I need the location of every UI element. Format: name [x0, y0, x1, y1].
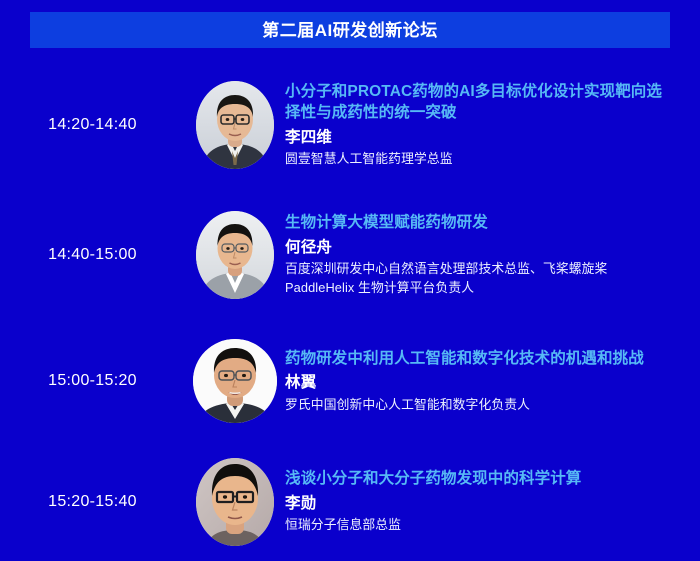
avatar-cell: [185, 211, 285, 299]
session-text: 生物计算大模型赋能药物研发 何径舟 百度深圳研发中心自然语言处理部技术总监、飞桨…: [285, 212, 700, 297]
session-time: 15:00-15:20: [0, 372, 185, 390]
talk-title: 生物计算大模型赋能药物研发: [285, 212, 674, 233]
affiliation-line: 圆壹智慧人工智能药理学总监: [285, 150, 674, 169]
affiliation-line: PaddleHelix 生物计算平台负责人: [285, 279, 674, 298]
talk-title: 药物研发中利用人工智能和数字化技术的机遇和挑战: [285, 348, 674, 369]
speaker-photo-he-jingzhou: [196, 211, 274, 299]
talk-title: 小分子和PROTAC药物的AI多目标优化设计实现靶向选择性与成药性的统一突破: [285, 81, 674, 124]
affiliation-line: 恒瑞分子信息部总监: [285, 516, 674, 535]
speaker-name: 何径舟: [285, 237, 674, 259]
talk-title: 浅谈小分子和大分子药物发现中的科学计算: [285, 468, 674, 489]
session-list: 14:20-14:40: [0, 60, 700, 561]
session-text: 小分子和PROTAC药物的AI多目标优化设计实现靶向选择性与成药性的统一突破 李…: [285, 81, 700, 169]
affiliation-line: 百度深圳研发中心自然语言处理部技术总监、飞桨螺旋桨: [285, 260, 674, 279]
speaker-photo-lin-yi: [193, 339, 277, 423]
speaker-photo-li-siwei: [196, 81, 274, 169]
page-title: 第二届AI研发创新论坛: [262, 22, 438, 39]
speaker-affiliation: 百度深圳研发中心自然语言处理部技术总监、飞桨螺旋桨 PaddleHelix 生物…: [285, 260, 674, 297]
avatar-cell: [185, 339, 285, 423]
speaker-name: 李四维: [285, 127, 674, 149]
session-time: 14:20-14:40: [0, 116, 185, 134]
header-banner: 第二届AI研发创新论坛: [30, 12, 670, 48]
session-time: 15:20-15:40: [0, 493, 185, 511]
session-row: 15:00-15:20: [0, 320, 700, 442]
speaker-affiliation: 恒瑞分子信息部总监: [285, 516, 674, 535]
affiliation-line: 罗氏中国创新中心人工智能和数字化负责人: [285, 396, 674, 415]
speaker-name: 李勋: [285, 493, 674, 515]
session-time: 14:40-15:00: [0, 246, 185, 264]
speaker-name: 林翼: [285, 372, 674, 394]
session-text: 浅谈小分子和大分子药物发现中的科学计算 李勋 恒瑞分子信息部总监: [285, 468, 700, 535]
avatar-cell: [185, 81, 285, 169]
speaker-affiliation: 罗氏中国创新中心人工智能和数字化负责人: [285, 396, 674, 415]
forum-agenda-poster: 第二届AI研发创新论坛 14:20-14:40: [0, 0, 700, 561]
avatar-cell: [185, 458, 285, 546]
speaker-photo-li-xun: [196, 458, 274, 546]
session-row: 14:20-14:40: [0, 60, 700, 190]
session-row: 15:20-15:40: [0, 442, 700, 561]
session-text: 药物研发中利用人工智能和数字化技术的机遇和挑战 林翼 罗氏中国创新中心人工智能和…: [285, 348, 700, 415]
speaker-affiliation: 圆壹智慧人工智能药理学总监: [285, 150, 674, 169]
session-row: 14:40-15:00: [0, 190, 700, 320]
